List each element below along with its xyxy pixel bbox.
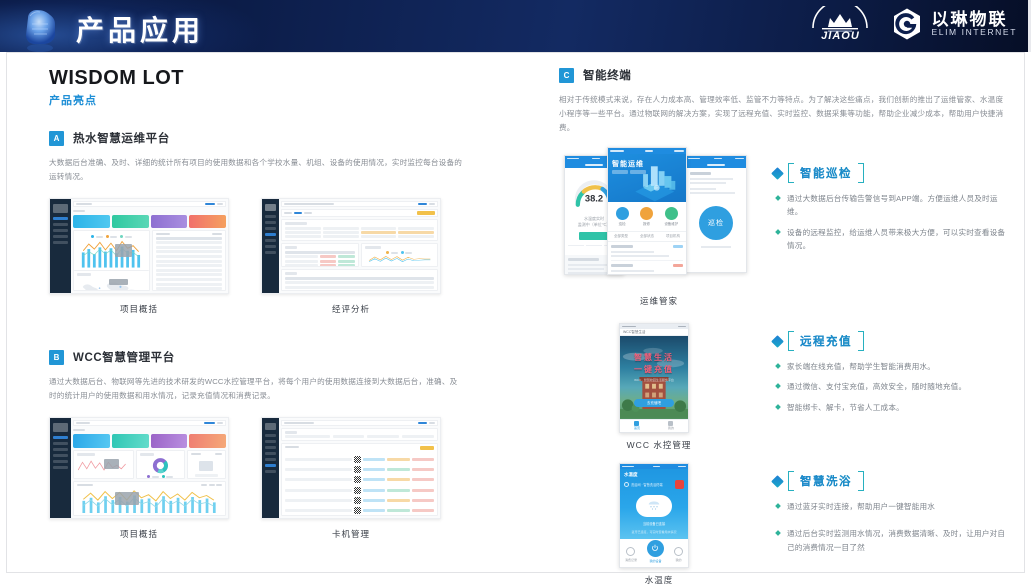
phone-detail-screen[interactable]: 巡检 — [685, 155, 747, 273]
bullet-item: 通过后台实时监测用水情况，消费数据清晰、及时，让用户对自己的消费情况一目了然 — [776, 527, 1007, 554]
line-chart — [365, 254, 435, 264]
bullet-item: 智能绑卡、解卡，节省人工成本。 — [776, 401, 1007, 414]
bullet-item: 设备的远程监控，给运维人员带来极大方便，可以实时查看设备情况。 — [776, 226, 1007, 253]
tab-consumption[interactable]: 消费记录 — [625, 547, 637, 562]
card-machine-table — [281, 443, 438, 516]
sidebar-item[interactable] — [265, 470, 276, 473]
sidebar-item[interactable] — [265, 251, 276, 254]
diamond-icon — [771, 335, 784, 348]
sidebar-item[interactable] — [265, 446, 276, 449]
kpi-card — [189, 434, 226, 448]
kpi-card — [189, 215, 226, 228]
feature-title: 智能巡检 — [800, 165, 852, 181]
sidebar-item[interactable] — [53, 460, 68, 463]
screenshot-project-overview-1[interactable]: 项目概括 — [49, 198, 229, 315]
wcc-tabbar[interactable]: 首页 我的 — [620, 419, 688, 430]
app-banner: 智能运维 — [608, 154, 686, 202]
water-temp-main: 水温度 洗浴间 · 智慧洗浴终端 — [620, 469, 688, 539]
phone-caption: 水温度 — [559, 574, 759, 586]
section-b-badge: B — [49, 350, 64, 365]
dashboard-row — [73, 450, 226, 479]
bottom-table-card — [281, 269, 438, 291]
table-row[interactable] — [285, 476, 434, 483]
shower-head-icon — [636, 495, 672, 517]
table-row[interactable] — [156, 287, 222, 290]
sunrise-crown-icon — [808, 6, 872, 32]
table-row[interactable] — [285, 507, 434, 514]
dashboard-main — [71, 199, 228, 293]
chart-tooltip — [115, 492, 139, 505]
table-row[interactable] — [156, 273, 222, 276]
feature-bullets: 通过蓝牙实时连接，帮助用户一键智能用水 通过后台实时监测用水情况，消费数据清晰、… — [776, 500, 1007, 554]
dashboard-mock — [49, 417, 229, 519]
water-sub-label: 洗浴间 · 智慧洗浴终端 — [631, 482, 663, 487]
donut-chart-card — [136, 450, 185, 479]
wcc-banner-line1: 智慧生活 — [620, 352, 688, 363]
quick-action-repair[interactable]: 报修 — [640, 207, 653, 227]
section-b-header: B WCC智慧管理平台 — [49, 349, 465, 365]
line-chart — [76, 457, 130, 475]
tab-my-device[interactable]: 我的设备 — [647, 540, 664, 563]
bar-line-chart — [77, 487, 222, 513]
qr-code-icon — [354, 497, 361, 504]
feature-title: 远程充值 — [800, 333, 852, 349]
qr-code-icon — [354, 507, 361, 514]
sidebar-item[interactable] — [53, 217, 68, 220]
jiaou-logo: JIAOU — [804, 6, 876, 42]
line-chart-card — [73, 450, 134, 479]
sidebar-item[interactable] — [265, 245, 276, 248]
sidebar-item[interactable] — [265, 458, 276, 461]
bullet-item: 通过微信、支付宝充值，高效安全，随时随地充值。 — [776, 380, 1007, 393]
tab-home[interactable]: 首页 — [634, 421, 640, 430]
table-row[interactable] — [156, 260, 222, 263]
table-header-row — [156, 237, 222, 240]
dashboard-sidebar — [262, 418, 279, 518]
table-row[interactable] — [156, 278, 222, 281]
product-application-page: 产品应用 JIAOU 以琳物联 ELIM I — [0, 0, 1031, 579]
dashboard-topbar — [73, 420, 226, 426]
section-b-description: 通过大数据后台、物联网等先进的技术研发的WCC水控管理平台，将每个用户的使用数据… — [49, 375, 465, 403]
sidebar-item[interactable] — [53, 442, 68, 445]
sidebar-item[interactable] — [265, 452, 276, 455]
section-c-title: 智能终端 — [583, 67, 631, 83]
sidebar-item[interactable] — [53, 436, 68, 439]
screenshot-project-overview-2[interactable]: 项目概括 — [49, 417, 229, 540]
dashboard-row — [281, 243, 438, 267]
phone-water-temp-screen[interactable]: 水温度 洗浴间 · 智慧洗浴终端 — [619, 463, 689, 568]
kpi-cards — [73, 434, 226, 448]
quick-action-inspection[interactable]: 巡检 — [616, 207, 629, 227]
jiaou-logo-text: JIAOU — [821, 30, 860, 42]
feature-title: 智慧洗浴 — [800, 473, 852, 489]
phone-wcc-screen[interactable]: WCC智慧生活 — [619, 323, 689, 433]
kpi-card — [151, 215, 188, 228]
dashboard-main — [71, 418, 228, 518]
dashboard-row — [73, 230, 226, 291]
sidebar-item[interactable] — [53, 229, 68, 232]
bullet-item: 家长端在线充值，帮助学生智能消费用水。 — [776, 360, 1007, 373]
table-row[interactable] — [156, 264, 222, 267]
table-row[interactable] — [156, 255, 222, 258]
screenshot-caption: 项目概括 — [49, 528, 229, 540]
section-b-title: WCC智慧管理平台 — [73, 349, 175, 365]
section-a-screenshots: 项目概括 — [49, 198, 465, 315]
campus-illustration: 智慧生活 一键充值 WCC · 智慧校园生活服务平台 去充值吧 — [620, 336, 688, 419]
section-a-badge: A — [49, 131, 64, 146]
filter-panel — [281, 219, 438, 241]
feature-smart-bathing: 智慧洗浴 通过蓝牙实时连接，帮助用户一键智能用水 通过后台实时监测用水情况，消费… — [759, 463, 1007, 561]
chart-card — [361, 243, 439, 267]
kpi-card — [112, 434, 149, 448]
table-row[interactable] — [156, 250, 222, 253]
list-item[interactable] — [611, 264, 683, 275]
wisdom-title: WISDOM LOT — [49, 67, 465, 89]
wisdom-subtitle: 产品亮点 — [49, 92, 465, 108]
qr-code-icon — [354, 456, 361, 463]
feature-bullets: 通过大数据后台传输告警信号到APP端。方便运维人员及时运维。 设备的远程监控，给… — [776, 192, 1007, 252]
table-row[interactable] — [285, 281, 434, 284]
sidebar-item[interactable] — [265, 221, 276, 224]
table-row[interactable] — [156, 269, 222, 272]
table-row[interactable] — [285, 286, 434, 289]
screenshot-caption: 项目概括 — [49, 303, 229, 315]
screenshot-card-machine[interactable]: 卡机管理 — [261, 417, 441, 540]
sidebar-item[interactable] — [53, 448, 68, 451]
phone-caption: 运维管家 — [559, 295, 759, 307]
section-c-header: C 智能终端 — [559, 67, 1007, 83]
quick-action-maintenance[interactable]: 设备维护 — [664, 207, 678, 227]
alert-badge-icon — [675, 480, 684, 489]
app-filter-bar[interactable]: 全部类型 全部状态 项目机构 — [608, 231, 686, 242]
diamond-icon — [771, 475, 784, 488]
dashboard-main — [279, 418, 440, 518]
map-tooltip — [109, 279, 129, 285]
sidebar-item[interactable] — [265, 233, 276, 236]
summary-card — [187, 450, 227, 479]
sidebar-item[interactable] — [265, 227, 276, 230]
data-table-card — [281, 243, 359, 267]
dashboard-sidebar — [262, 199, 279, 293]
right-column: C 智能终端 相对于传统模式来说，存在人力成本高、管理效率低、监管不力等特点。为… — [559, 67, 1007, 586]
export-button[interactable] — [417, 211, 435, 215]
fist-icon — [14, 2, 66, 52]
feature-heading: 远程充值 — [773, 331, 1007, 351]
water-app-name: 水温度 — [624, 472, 638, 478]
bar-line-chart — [77, 239, 146, 268]
chart-card — [73, 230, 150, 291]
diamond-icon — [771, 167, 784, 180]
bullet-item: 通过大数据后台传输告警信号到APP端。方便运维人员及时运维。 — [776, 192, 1007, 219]
qr-code-icon — [354, 466, 361, 473]
qr-code-icon — [354, 487, 361, 494]
section-a-title: 热水智慧运维平台 — [73, 130, 170, 146]
gauge-value: 38.2 — [585, 194, 603, 204]
sidebar-item[interactable] — [53, 454, 68, 457]
table-header-row — [285, 277, 434, 280]
bullet-item: 通过蓝牙实时连接，帮助用户一键智能用水 — [776, 500, 1007, 513]
qr-code-icon — [354, 476, 361, 483]
sidebar-logo — [53, 423, 68, 432]
elim-logo-en: ELIM INTERNET — [931, 28, 1017, 37]
screenshot-caption: 卡机管理 — [261, 528, 441, 540]
wcc-banner-line2: 一键充值 — [620, 364, 688, 375]
phone-group-wcc: WCC智慧生活 — [559, 323, 754, 433]
sidebar-item[interactable] — [265, 239, 276, 242]
terminal-block-wcc: WCC智慧生活 — [559, 323, 1007, 451]
wcc-recharge-button[interactable]: 去充值吧 — [634, 399, 674, 407]
left-column: WISDOM LOT 产品亮点 A 热水智慧运维平台 大数据后台准确、及时、详细… — [49, 67, 465, 540]
dashboard-mock — [261, 198, 441, 294]
kpi-cards — [73, 215, 226, 228]
chart-tooltip — [115, 244, 132, 257]
dashboard-sidebar — [50, 418, 71, 518]
bar-line-chart-card — [73, 481, 226, 516]
water-tabbar[interactable]: 消费记录 我的设备 — [620, 539, 688, 568]
sidebar-item[interactable] — [265, 215, 276, 218]
tab-mine[interactable]: 我的 — [674, 547, 683, 562]
kpi-card — [151, 434, 188, 448]
elim-logo: 以琳物联 ELIM INTERNET — [890, 7, 1017, 41]
table-row[interactable] — [285, 487, 434, 494]
section-b-screenshots: 项目概括 — [49, 417, 465, 540]
dashboard-main — [279, 199, 440, 293]
dashboard-topbar — [281, 201, 438, 207]
table-row[interactable] — [156, 241, 222, 244]
app-quick-actions: 巡检 报修 设备维护 — [608, 202, 686, 231]
sidebar-item[interactable] — [265, 440, 276, 443]
section-a-header: A 热水智慧运维平台 — [49, 130, 465, 146]
table-row[interactable] — [156, 283, 222, 286]
page-title: 产品应用 — [76, 9, 204, 49]
donut-chart — [144, 457, 177, 474]
dashboard-topbar — [73, 201, 226, 207]
dashboard-mock — [49, 198, 229, 294]
sidebar-item[interactable] — [53, 235, 68, 238]
elim-logo-cn: 以琳物联 — [931, 11, 1017, 29]
terminal-block-ops: 38.2 水温度实时监测中（单位℃） — [559, 147, 1007, 307]
header-logos: JIAOU 以琳物联 ELIM INTERNET — [804, 6, 1017, 42]
chart-tooltip — [104, 459, 118, 470]
sidebar-item[interactable] — [265, 434, 276, 437]
app-name: 智能运维 — [612, 159, 644, 169]
table-row[interactable] — [285, 497, 434, 504]
inspection-action-button[interactable]: 巡检 — [699, 206, 733, 240]
section-a-description: 大数据后台准确、及时、详细的统计所有项目的使用数据和各个学校水量、机组、设备的使… — [49, 156, 465, 184]
phone-group-ops: 38.2 水温度实时监测中（单位℃） — [559, 147, 754, 287]
table-row[interactable] — [156, 246, 222, 249]
screenshot-caption: 经评分析 — [261, 303, 441, 315]
hexagon-g-icon — [890, 7, 924, 41]
content-sheet: WISDOM LOT 产品亮点 A 热水智慧运维平台 大数据后台准确、及时、详细… — [6, 52, 1025, 573]
power-icon — [651, 544, 659, 552]
kpi-card — [112, 215, 149, 228]
page-header: 产品应用 JIAOU 以琳物联 ELIM I — [0, 0, 1031, 52]
list-item[interactable] — [611, 245, 683, 261]
sidebar-item[interactable] — [53, 241, 68, 244]
phone-caption: WCC 水控管理 — [559, 439, 759, 451]
phone-ops-home-screen[interactable]: 智能运维 巡检 — [607, 147, 687, 275]
sidebar-item[interactable] — [53, 223, 68, 226]
kpi-card — [73, 434, 110, 448]
alarm-list — [608, 242, 686, 275]
feature-heading: 智慧洗浴 — [773, 471, 1007, 491]
data-table-card — [152, 230, 226, 291]
phone-group-water: 水温度 洗浴间 · 智慧洗浴终端 — [559, 463, 754, 568]
kpi-card — [73, 215, 110, 228]
tab-mine[interactable]: 我的 — [668, 421, 674, 430]
section-c-badge: C — [559, 68, 574, 83]
sidebar-item[interactable] — [53, 466, 68, 469]
sidebar-logo — [53, 204, 68, 213]
screenshot-analysis[interactable]: 经评分析 — [261, 198, 441, 315]
table-row[interactable] — [285, 466, 434, 473]
feature-smart-inspection: 智能巡检 通过大数据后台传输告警信号到APP端。方便运维人员及时运维。 设备的远… — [759, 147, 1007, 259]
feature-heading: 智能巡检 — [773, 163, 1007, 183]
table-header-row — [285, 251, 355, 254]
feature-remote-recharge: 远程充值 家长端在线充值，帮助学生智能消费用水。 通过微信、支付宝充值，高效安全… — [759, 323, 1007, 421]
filter-panel — [281, 428, 438, 441]
sidebar-item[interactable] — [265, 464, 276, 467]
wcc-app-name: WCC智慧生活 — [623, 330, 645, 335]
dashboard-topbar — [281, 420, 438, 426]
table-row[interactable] — [285, 456, 434, 463]
section-c-description: 相对于传统模式来说，存在人力成本高、管理效率低、监管不力等特点。为了解决这些痛点… — [559, 93, 1007, 135]
dashboard-sidebar — [50, 199, 71, 293]
feature-bullets: 家长端在线充值，帮助学生智能消费用水。 通过微信、支付宝充值，高效安全，随时随地… — [776, 360, 1007, 414]
dashboard-mock — [261, 417, 441, 519]
terminal-block-water-temp: 水温度 洗浴间 · 智慧洗浴终端 — [559, 463, 1007, 586]
